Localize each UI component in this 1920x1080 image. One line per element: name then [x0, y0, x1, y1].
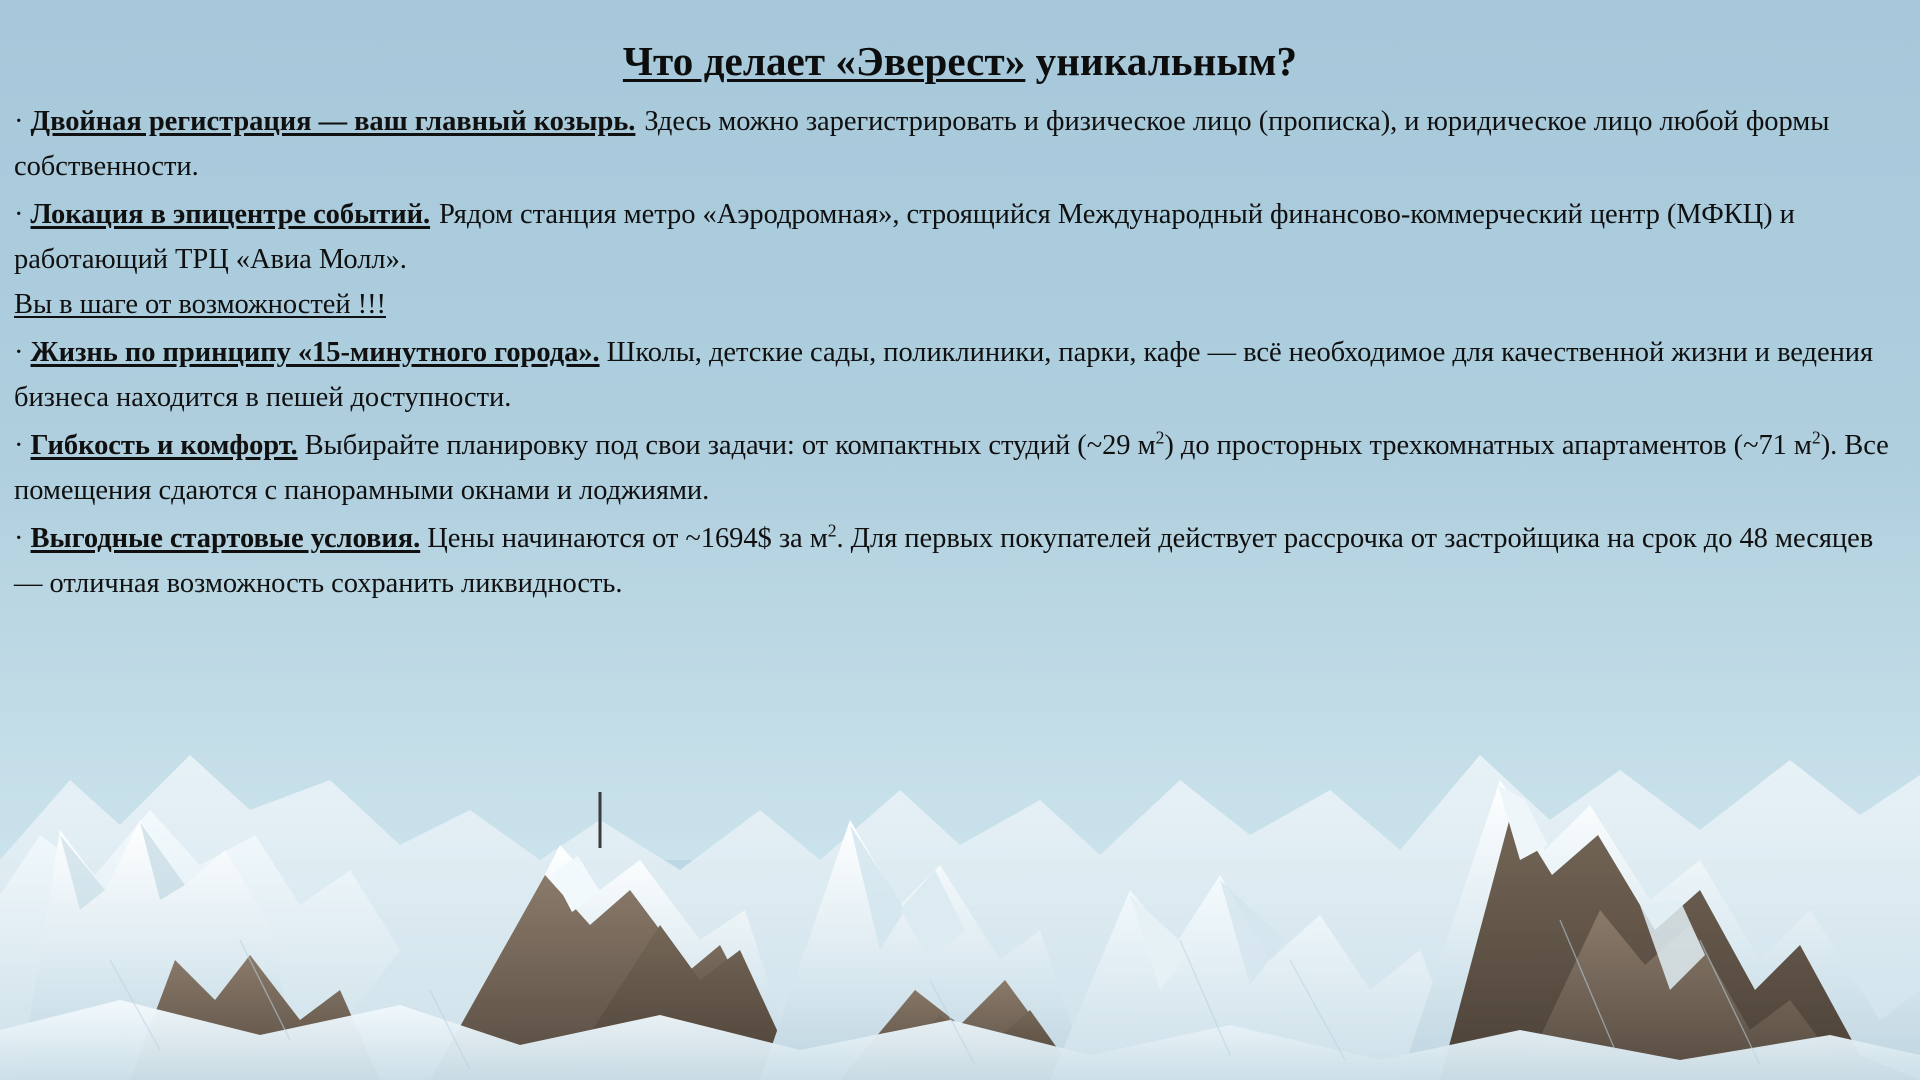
mountain-photo-background	[0, 660, 1920, 1080]
slide-content: Что делает «Эверест» уникальным? · Двойн…	[0, 0, 1920, 609]
bullet-location: · Локация в эпицентре событий.Рядом стан…	[14, 192, 1898, 327]
bullet-body-flex-a: Выбирайте планировку под свои задачи: от…	[305, 430, 1156, 461]
benefits-list: · Двойная регистрация — ваш главный козы…	[0, 99, 1920, 606]
bullet-marker: ·	[14, 430, 23, 461]
bullet-dual-registration: · Двойная регистрация — ваш главный козы…	[14, 99, 1898, 189]
bullet-body-start-a: Цены начинаются от ~1694$ за м	[427, 523, 827, 554]
slide-title-underlined-part: Что делает «Эверест»	[623, 38, 1025, 84]
bullet-lead-fifteen-minute-city: Жизнь по принципу «15-минутного города».	[31, 337, 600, 368]
slide-title: Что делает «Эверест» уникальным?	[0, 38, 1920, 85]
bullet-marker: ·	[14, 199, 23, 230]
bullet-flexibility-comfort: · Гибкость и комфорт. Выбирайте планиров…	[14, 423, 1898, 513]
slide-title-tail: уникальным?	[1025, 38, 1297, 84]
bullet-marker: ·	[14, 106, 23, 137]
square-meter-superscript: 2	[1812, 428, 1821, 448]
location-tagline: Вы в шаге от возможностей !!!	[14, 289, 386, 320]
bullet-fifteen-minute-city: · Жизнь по принципу «15-минутного города…	[14, 330, 1898, 420]
bullet-starting-conditions: · Выгодные стартовые условия. Цены начин…	[14, 516, 1898, 606]
presentation-slide: Что делает «Эверест» уникальным? · Двойн…	[0, 0, 1920, 1080]
bullet-lead-starting-conditions: Выгодные стартовые условия.	[31, 523, 421, 554]
bullet-body-flex-b: ) до просторных трехкомнатных апартамент…	[1164, 430, 1812, 461]
bullet-lead-flexibility-comfort: Гибкость и комфорт.	[31, 430, 298, 461]
bullet-marker: ·	[14, 523, 23, 554]
bullet-lead-location: Локация в эпицентре событий.	[31, 199, 431, 230]
bullet-marker: ·	[14, 337, 23, 368]
bullet-lead-dual-registration: Двойная регистрация — ваш главный козырь…	[31, 106, 636, 137]
